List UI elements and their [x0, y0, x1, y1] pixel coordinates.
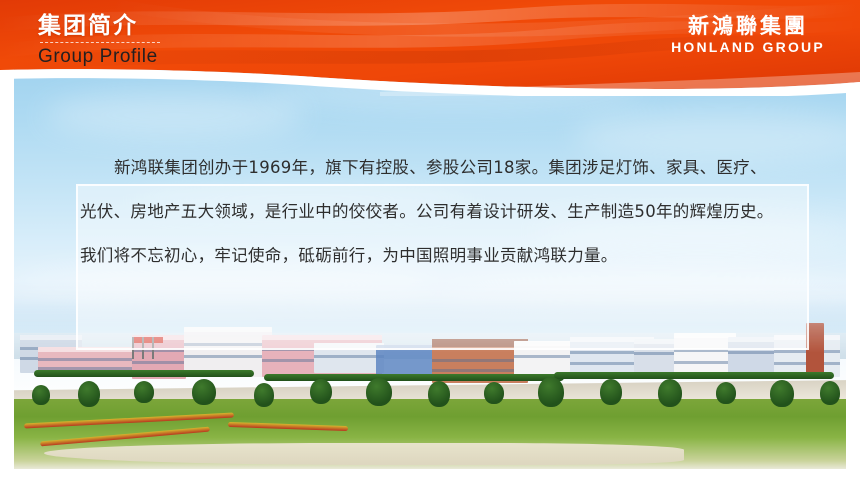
logo-name-cn: 新鴻聯集團 [658, 14, 838, 38]
slide-canvas: 新鸿联集团创办于1969年，旗下有控股、参股公司18家。集团涉足灯饰、家具、医疗… [0, 0, 860, 484]
paragraph-line: 我们将不忘初心，牢记使命，砥砺前行，为中国照明事业贡献鸿联力量。 [80, 234, 777, 278]
page-title-block: 集团简介 Group Profile [38, 12, 368, 69]
logo-name-en: HONLAND GROUP [658, 38, 838, 56]
paragraph-line: 新鸿联集团创办于1969年，旗下有控股、参股公司18家。集团涉足灯饰、家具、医疗… [80, 146, 777, 190]
photo-tree-row [14, 367, 846, 407]
slide-header-banner: 集团简介 Group Profile 新鴻聯集團 HONLAND GROUP [0, 0, 860, 96]
paragraph-line: 光伏、房地产五大领域，是行业中的佼佼者。公司有着设计研发、生产制造50年的辉煌历… [80, 190, 777, 234]
profile-paragraph: 新鸿联集团创办于1969年，旗下有控股、参股公司18家。集团涉足灯饰、家具、医疗… [62, 128, 795, 288]
title-divider [40, 42, 160, 43]
page-title-cn: 集团简介 [38, 12, 368, 40]
brand-logo: 新鴻聯集團 HONLAND GROUP [658, 14, 838, 56]
page-title-en: Group Profile [38, 44, 368, 69]
